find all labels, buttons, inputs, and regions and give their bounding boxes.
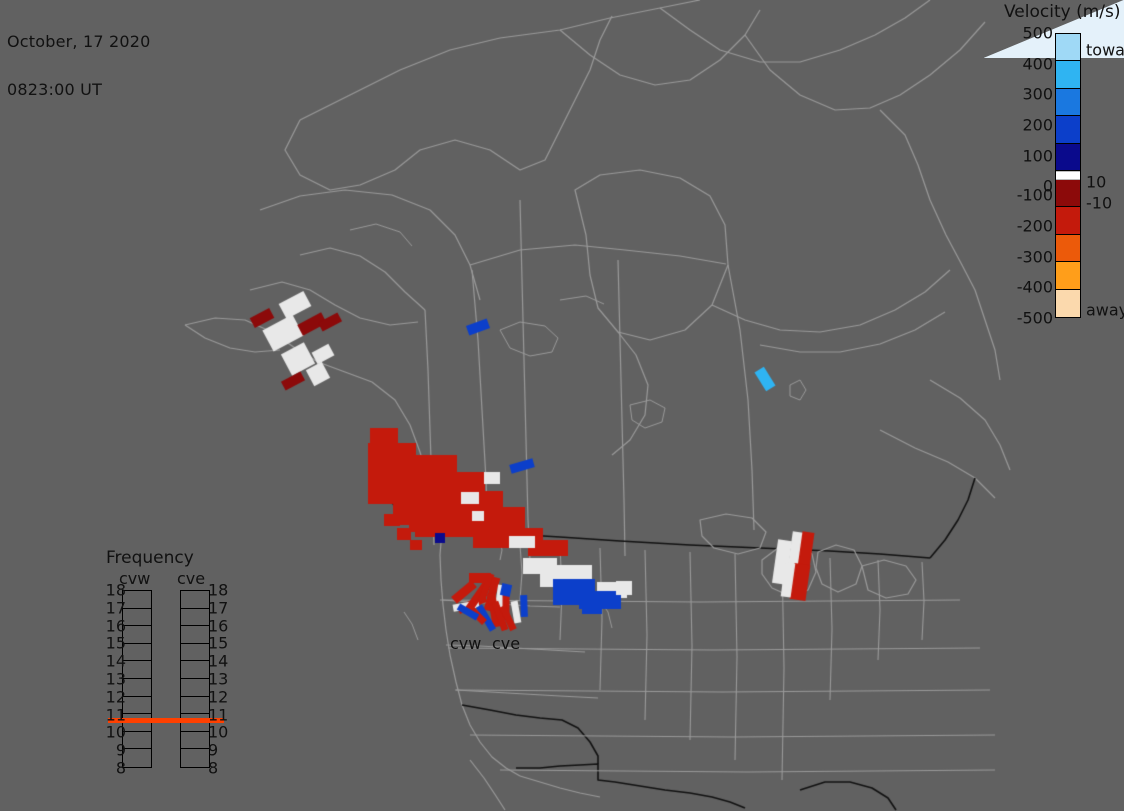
deadband-low-label: -10 [1086,194,1112,213]
frequency-scale-cell [181,609,209,627]
deadband-high-label: 10 [1086,173,1106,192]
frequency-scale-cell [181,591,209,609]
frequency-scale-cell [123,661,151,679]
frequency-scale-cell [123,749,151,767]
velocity-tick-label: 500 [1022,24,1053,43]
away-label: away [1086,301,1124,320]
toward-label: toward [1086,41,1124,60]
velocity-colorbar-band [1056,89,1080,116]
radar-site-label: cvw [450,634,481,653]
velocity-legend-title: Velocity (m/s) [1004,2,1121,22]
timestamp-date: October, 17 2020 [7,34,151,50]
velocity-colorbar-band [1056,144,1080,171]
velocity-colorbar-band [1056,207,1080,234]
frequency-tick-label: 17 [208,598,228,617]
frequency-tick-label: 12 [106,687,126,706]
frequency-tick-label: 13 [208,670,228,689]
frequency-scale-cell [181,714,209,732]
frequency-scale-cell [123,626,151,644]
frequency-scale-cell [181,732,209,750]
frequency-scale-cell [123,679,151,697]
velocity-colorbar-band [1056,171,1080,180]
frequency-column-box [180,590,210,768]
velocity-colorbar-band [1056,116,1080,143]
velocity-colorbar-band [1056,290,1080,317]
velocity-tick-label: -500 [1017,309,1053,328]
radar-site-label: cve [492,634,520,653]
timestamp: October, 17 2020 0823:00 UT [7,2,151,130]
velocity-tick-label: -100 [1017,186,1053,205]
velocity-colorbar-band [1056,34,1080,61]
velocity-colorbar-band [1056,262,1080,289]
frequency-tick-label: 18 [208,581,228,600]
frequency-legend-title: Frequency [106,548,194,568]
frequency-tick-label: 14 [106,652,126,671]
frequency-scale-cell [181,679,209,697]
frequency-scale-cell [123,591,151,609]
velocity-tick-label: -400 [1017,278,1053,297]
frequency-column-header: cve [177,569,205,588]
frequency-scale-cell [181,749,209,767]
velocity-map-window: October, 17 2020 0823:00 UT Velocity (m/… [0,0,1124,811]
frequency-tick-label: 12 [208,687,228,706]
frequency-scale-cell [123,644,151,662]
frequency-tick-label: 8 [208,759,218,778]
frequency-scale-cell [181,644,209,662]
frequency-tick-label: 16 [208,616,228,635]
frequency-tick-label: 18 [106,581,126,600]
velocity-tick-label: 400 [1022,54,1053,73]
velocity-colorbar-band [1056,180,1080,207]
frequency-tick-label: 14 [208,652,228,671]
frequency-scale-cell [181,661,209,679]
velocity-tick-label: 200 [1022,116,1053,135]
frequency-tick-label: 13 [106,670,126,689]
frequency-scale-cell [123,732,151,750]
velocity-colorbar-band [1056,235,1080,262]
frequency-tick-label: 9 [208,741,218,760]
frequency-tick-label: 9 [116,741,126,760]
velocity-colorbar-band [1056,61,1080,88]
frequency-tick-label: 15 [106,634,126,653]
frequency-column-box [122,590,152,768]
frequency-tick-label: 15 [208,634,228,653]
frequency-scale-cell [181,697,209,715]
velocity-colorbar [1055,33,1081,318]
frequency-tick-label: 17 [106,598,126,617]
velocity-legend: Velocity (m/s) 5004003002001000-100-200-… [994,2,1124,332]
frequency-tick-label: 16 [106,616,126,635]
frequency-tick-label: 10 [208,723,228,742]
frequency-scale-cell [123,609,151,627]
timestamp-time: 0823:00 UT [7,82,151,98]
frequency-tick-label: 11 [208,705,228,724]
frequency-scale-cell [181,626,209,644]
velocity-tick-label: 100 [1022,146,1053,165]
frequency-legend: Frequency cvwcve181817171616151514141313… [92,548,242,776]
velocity-tick-label: 300 [1022,85,1053,104]
frequency-scale-cell [123,714,151,732]
frequency-tick-label: 8 [116,759,126,778]
frequency-tick-label: 11 [106,705,126,724]
frequency-tick-label: 10 [106,723,126,742]
velocity-tick-label: -300 [1017,247,1053,266]
velocity-tick-label: -200 [1017,217,1053,236]
frequency-scale-cell [123,697,151,715]
